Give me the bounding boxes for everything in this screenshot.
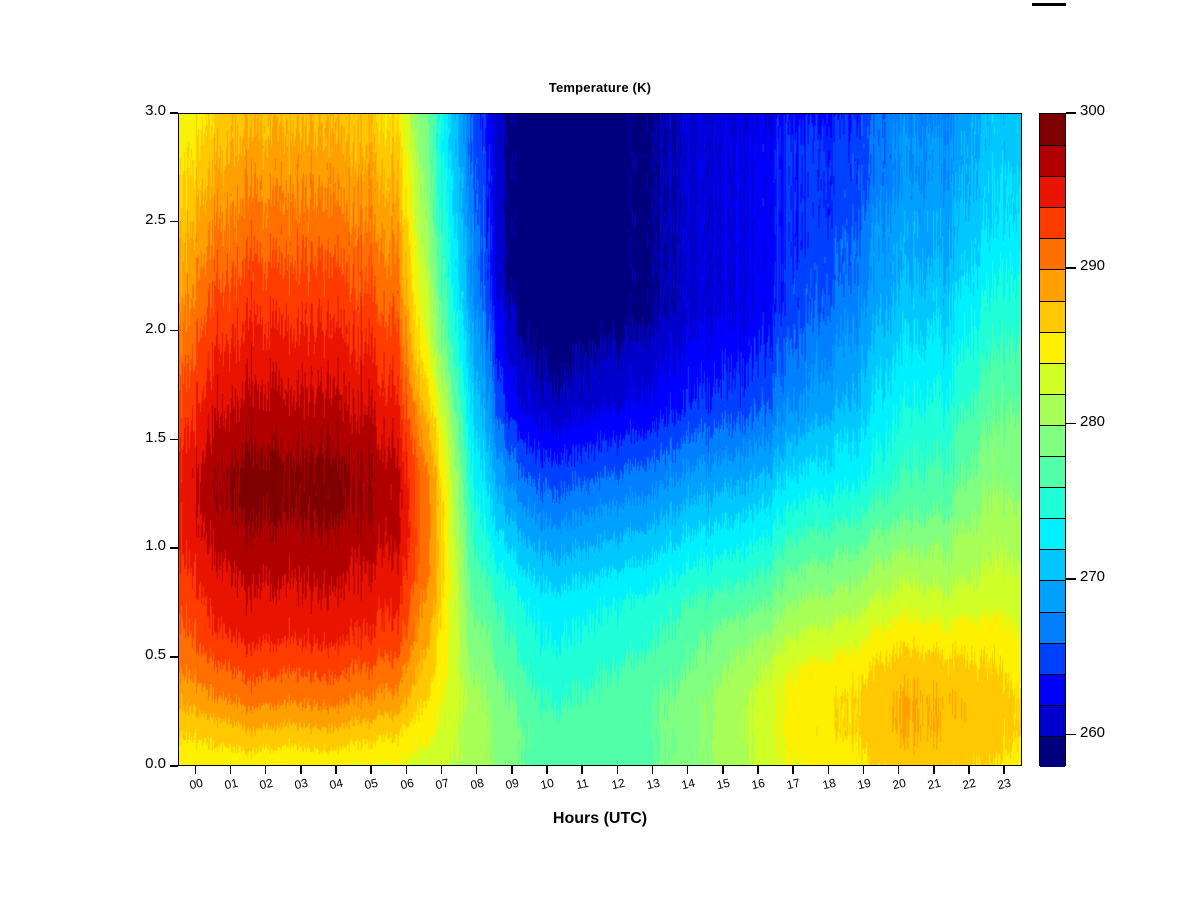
temperature-time-height-figure: Temperature (K) 0.00.51.01.52.02.53.0 He… [0,0,1200,900]
x-tick-label: 04 [323,775,349,794]
x-tick-label: 17 [780,775,806,794]
x-tick-mark [652,766,654,774]
y-tick-label: 1.5 [145,429,166,446]
x-tick-mark [757,766,759,774]
x-tick-label: 14 [675,775,701,794]
y-tick-mark [170,112,178,114]
x-tick-mark [581,766,583,774]
y-tick-label: 2.0 [145,320,166,337]
x-tick-mark [722,766,724,774]
colorbar-tick-label: 270 [1080,568,1105,585]
x-tick-label: 21 [921,775,947,794]
x-tick-label: 06 [394,775,420,794]
x-tick-mark [863,766,865,774]
colorbar-tick-label: 280 [1080,413,1105,430]
x-tick-label: 11 [569,775,595,794]
colorbar-tick-mark [1066,423,1076,425]
x-tick-mark [1003,766,1005,774]
colorbar-tick-mark [1066,578,1076,580]
x-tick-label: 15 [710,775,736,794]
y-tick-mark [170,439,178,441]
x-tick-label: 09 [499,775,525,794]
x-tick-label: 12 [605,775,631,794]
x-tick-label: 05 [358,775,384,794]
x-tick-mark [687,766,689,774]
y-axis: 0.00.51.01.52.02.53.0 [0,113,178,766]
x-tick-label: 16 [745,775,771,794]
colorbar-tick-mark [1066,734,1076,736]
y-tick-mark [170,221,178,223]
y-tick-label: 1.0 [145,537,166,554]
colorbar-tick-label: 260 [1080,724,1105,741]
y-tick-label: 0.5 [145,646,166,663]
x-tick-label: 02 [253,775,279,794]
y-tick-mark [170,765,178,767]
x-tick-label: 22 [956,775,982,794]
x-tick-label: 23 [991,775,1017,794]
colorbar-tick-label: 300 [1080,102,1105,119]
x-axis-title: Hours (UTC) [178,810,1022,828]
top-edge-artifact [1032,3,1066,6]
x-tick-mark [195,766,197,774]
x-tick-mark [792,766,794,774]
x-tick-mark [546,766,548,774]
y-axis-title: Height (km) [62,0,84,135]
x-tick-mark [617,766,619,774]
page-title: Temperature (K) [178,80,1022,95]
x-tick-label: 01 [218,775,244,794]
heatmap-plot-area [178,113,1022,766]
x-tick-mark [230,766,232,774]
colorbar-tick-label: 290 [1080,257,1105,274]
x-tick-mark [300,766,302,774]
x-tick-mark [968,766,970,774]
x-tick-mark [265,766,267,774]
colorbar-ticks: 260270280290300 [1039,113,1189,766]
x-tick-label: 13 [640,775,666,794]
x-tick-label: 03 [288,775,314,794]
x-tick-label: 08 [464,775,490,794]
x-tick-mark [511,766,513,774]
x-tick-mark [370,766,372,774]
y-tick-mark [170,656,178,658]
x-tick-label: 07 [429,775,455,794]
x-tick-mark [406,766,408,774]
y-tick-label: 3.0 [145,102,166,119]
x-tick-mark [335,766,337,774]
x-tick-label: 00 [183,775,209,794]
x-tick-mark [441,766,443,774]
colorbar-tick-mark [1066,267,1076,269]
x-tick-mark [933,766,935,774]
temperature-heatmap [179,114,1021,765]
x-tick-label: 18 [816,775,842,794]
x-tick-mark [898,766,900,774]
x-tick-mark [828,766,830,774]
y-axis-title-wrap: Height (km) [0,0,1,1]
x-tick-mark [476,766,478,774]
y-tick-mark [170,330,178,332]
colorbar-tick-mark [1066,112,1076,114]
y-tick-mark [170,547,178,549]
x-tick-label: 19 [851,775,877,794]
y-tick-label: 0.0 [145,755,166,772]
x-tick-label: 10 [534,775,560,794]
x-tick-label: 20 [886,775,912,794]
y-tick-label: 2.5 [145,211,166,228]
